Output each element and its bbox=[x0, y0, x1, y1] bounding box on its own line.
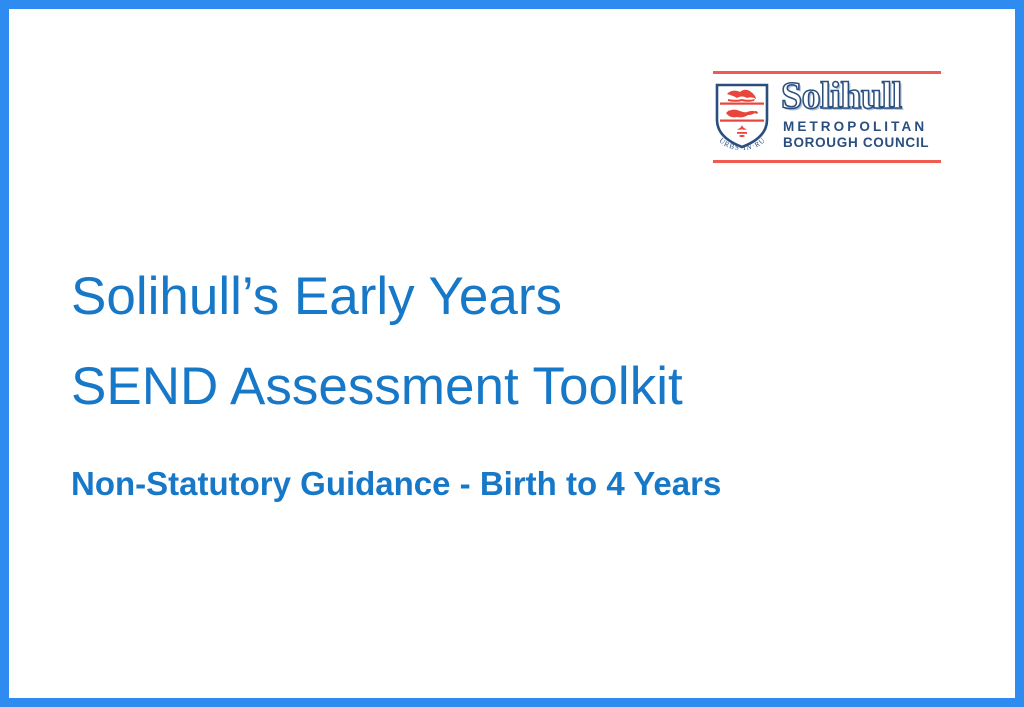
slide-page: URBS·IN·RURE Solihull METROPOLITAN BOROU… bbox=[9, 9, 1015, 698]
subtitle: Non-Statutory Guidance - Birth to 4 Year… bbox=[71, 456, 931, 512]
logo-line-metropolitan: METROPOLITAN bbox=[783, 119, 943, 134]
logo-wordmark-group: Solihull METROPOLITAN BOROUGH COUNCIL bbox=[781, 76, 943, 150]
logo-rule-bottom bbox=[713, 160, 941, 163]
title-block: Solihull’s Early Years SEND Assessment T… bbox=[71, 252, 931, 512]
logo-wordmark: Solihull bbox=[781, 76, 943, 116]
solihull-council-logo: URBS·IN·RURE Solihull METROPOLITAN BOROU… bbox=[709, 66, 941, 166]
logo-line-borough-council: BOROUGH COUNCIL bbox=[783, 135, 943, 150]
title-line-2: SEND Assessment Toolkit bbox=[71, 342, 931, 432]
coat-of-arms-icon: URBS·IN·RURE bbox=[711, 82, 773, 158]
title-line-1: Solihull’s Early Years bbox=[71, 252, 931, 342]
slide-frame: URBS·IN·RURE Solihull METROPOLITAN BOROU… bbox=[0, 0, 1024, 707]
logo-rule-top bbox=[713, 71, 941, 74]
